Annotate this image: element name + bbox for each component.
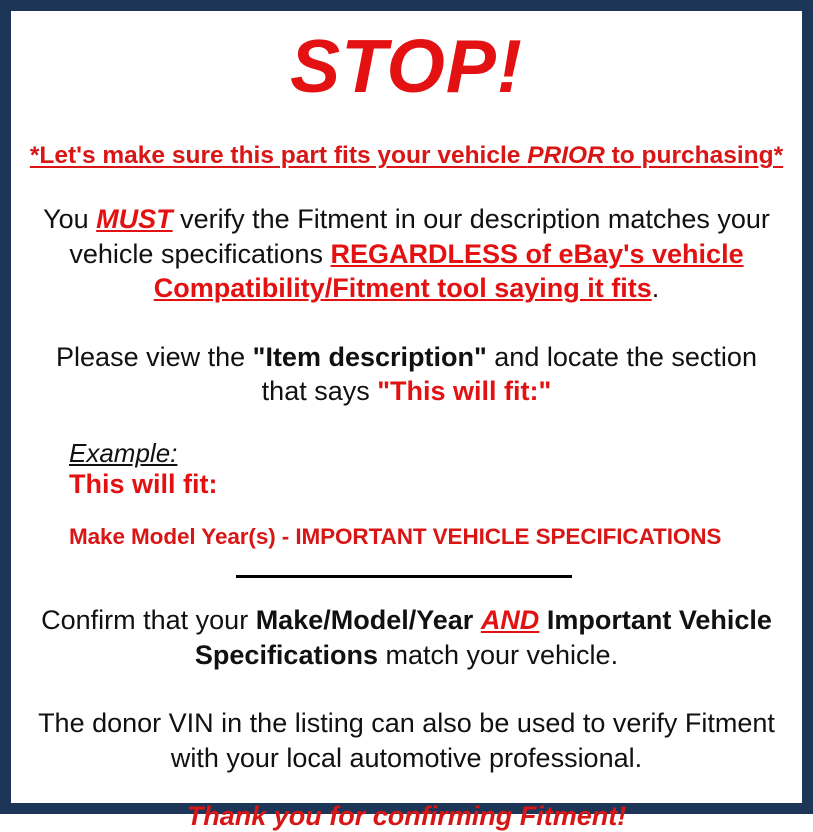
- make-model-year-emphasis: Make/Model/Year: [256, 605, 474, 635]
- notice-content: STOP! *Let's make sure this part fits yo…: [20, 11, 793, 803]
- and-emphasis: AND: [481, 605, 540, 635]
- item-seg-1: Please view the: [56, 342, 253, 372]
- must-emphasis: MUST: [96, 204, 173, 234]
- example-fit-heading: This will fit:: [69, 469, 789, 499]
- confirm-paragraph: Confirm that your Make/Model/Year AND Im…: [24, 603, 789, 672]
- item-description-paragraph: Please view the "Item description" and l…: [24, 340, 789, 409]
- divider-container: [24, 575, 789, 578]
- tagline-after: to purchasing*: [605, 142, 783, 169]
- must-verify-paragraph: You MUST verify the Fitment in our descr…: [24, 202, 789, 306]
- must-seg-1: You: [43, 204, 96, 234]
- example-block: Example: This will fit: Make Model Year(…: [24, 439, 789, 550]
- tagline-prior-emphasis: PRIOR: [527, 142, 605, 169]
- item-description-label: "Item description": [253, 342, 487, 372]
- must-seg-5: .: [652, 273, 660, 303]
- example-spec-line: Make Model Year(s) - IMPORTANT VEHICLE S…: [69, 524, 789, 550]
- fitment-notice-frame: STOP! *Let's make sure this part fits yo…: [0, 0, 813, 814]
- this-will-fit-quote: "This will fit:": [377, 376, 551, 406]
- confirm-seg-5: match your vehicle.: [378, 640, 618, 670]
- donor-vin-paragraph: The donor VIN in the listing can also be…: [24, 706, 789, 775]
- section-divider: [236, 575, 572, 578]
- stop-title: STOP!: [24, 29, 789, 104]
- tagline-before: *Let's make sure this part fits your veh…: [30, 142, 527, 169]
- thank-you-message: Thank you for confirming Fitment!: [24, 801, 789, 832]
- tagline: *Let's make sure this part fits your veh…: [24, 142, 789, 170]
- confirm-seg-1: Confirm that your: [41, 605, 256, 635]
- example-label: Example:: [69, 439, 177, 468]
